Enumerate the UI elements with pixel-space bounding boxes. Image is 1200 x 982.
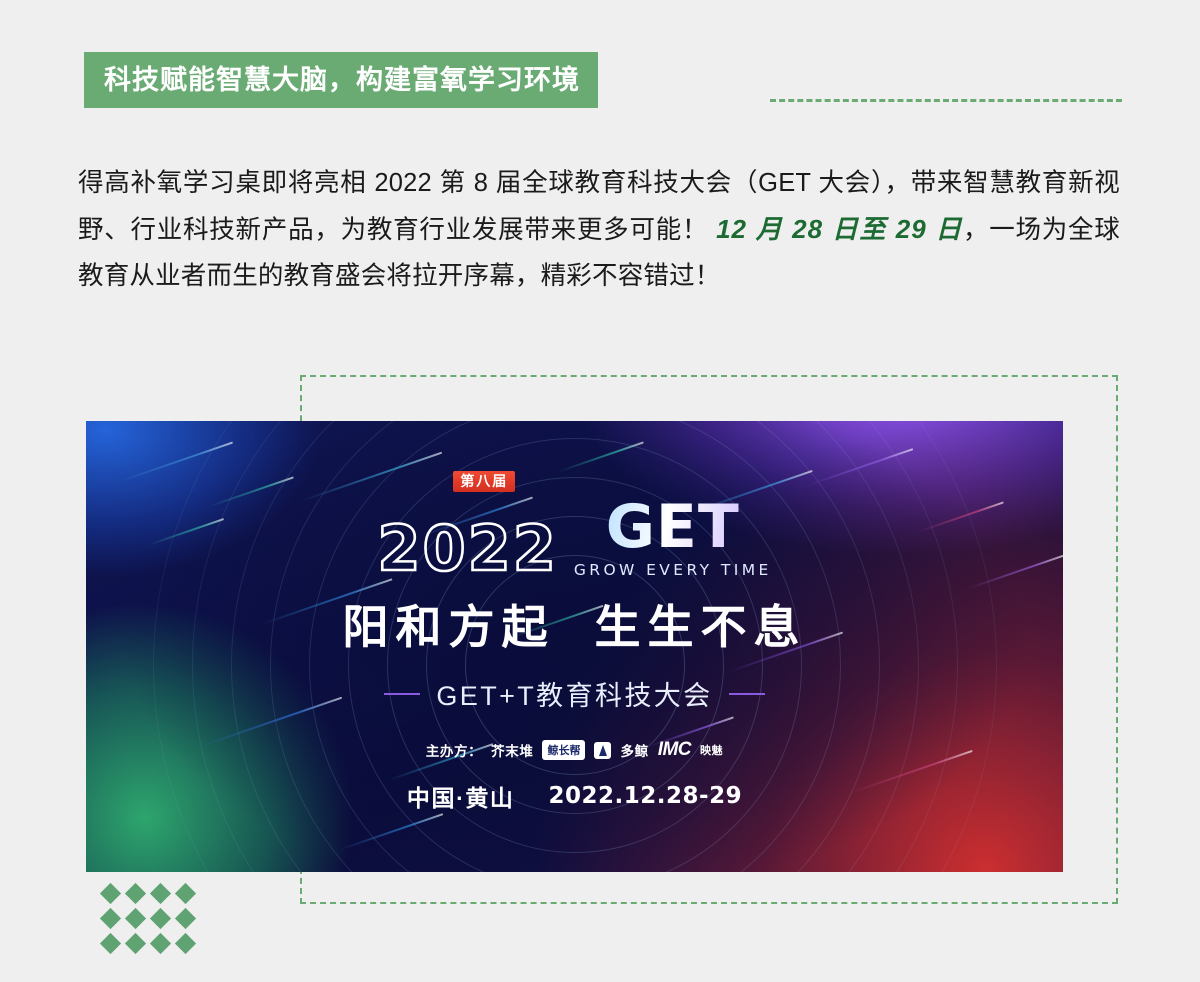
decorative-dot-grid: [103, 886, 203, 961]
paragraph-date-highlight: 12 月 28 日至 29 日: [716, 214, 963, 244]
edition-badge: 第八届: [453, 471, 515, 492]
dot: [100, 908, 121, 929]
dot: [150, 933, 171, 954]
dot: [100, 883, 121, 904]
slogan-left: 阳和方起: [343, 604, 555, 650]
slogan-right: 生生不息: [595, 604, 807, 650]
dot: [175, 908, 196, 929]
poster-subtitle-text: GET+T教育科技大会: [436, 674, 712, 713]
dot: [125, 933, 146, 954]
sponsors-label: 主办方：: [426, 740, 482, 760]
dot: [175, 883, 196, 904]
poster-year: 2022: [377, 520, 558, 579]
page-root: 科技赋能智慧大脑，构建富氧学习环境 得高补氧学习桌即将亮相 2022 第 8 届…: [0, 0, 1200, 982]
sponsor-duojing: 多鲸: [620, 740, 648, 760]
poster-content: 第八届 2022 GET GROW EVERY TIME 阳和方起 生生不息 G…: [86, 421, 1063, 872]
get-logo-group: GET GROW EVERY TIME: [574, 499, 772, 579]
dash-right-icon: [729, 693, 765, 695]
sponsor-triangle-icon: [594, 742, 611, 759]
conference-poster-image: 第八届 2022 GET GROW EVERY TIME 阳和方起 生生不息 G…: [86, 421, 1063, 872]
get-logo: GET: [606, 499, 740, 556]
dot: [100, 933, 121, 954]
sponsor-jiemodui: 芥末堆: [491, 740, 533, 760]
section-title-banner: 科技赋能智慧大脑，构建富氧学习环境: [84, 52, 598, 108]
poster-location: 中国·黄山: [407, 779, 515, 813]
poster-slogan: 阳和方起 生生不息: [343, 604, 807, 650]
header-dashed-rule: [770, 99, 1122, 102]
intro-paragraph: 得高补氧学习桌即将亮相 2022 第 8 届全球教育科技大会（GET 大会），带…: [78, 160, 1120, 299]
dot: [150, 908, 171, 929]
sponsor-yingmei: 映魅: [700, 742, 723, 758]
poster-sponsors: 主办方： 芥末堆 鲸长帮 多鲸 IMC 映魅: [426, 739, 723, 761]
poster-logo-row: 第八届 2022 GET GROW EVERY TIME: [377, 499, 771, 579]
dot: [175, 933, 196, 954]
section-title-text: 科技赋能智慧大脑，构建富氧学习环境: [104, 67, 580, 94]
sponsor-imc: IMC: [658, 739, 691, 761]
get-logo-tagline: GROW EVERY TIME: [574, 561, 772, 579]
poster-venue-row: 中国·黄山 2022.12.28-29: [407, 779, 742, 813]
dot: [125, 908, 146, 929]
poster-date: 2022.12.28-29: [549, 783, 743, 809]
poster-subtitle: GET+T教育科技大会: [384, 674, 764, 713]
dash-left-icon: [384, 693, 420, 695]
sponsor-jingzhangbang: 鲸长帮: [542, 740, 585, 760]
dot: [150, 883, 171, 904]
dot: [125, 883, 146, 904]
